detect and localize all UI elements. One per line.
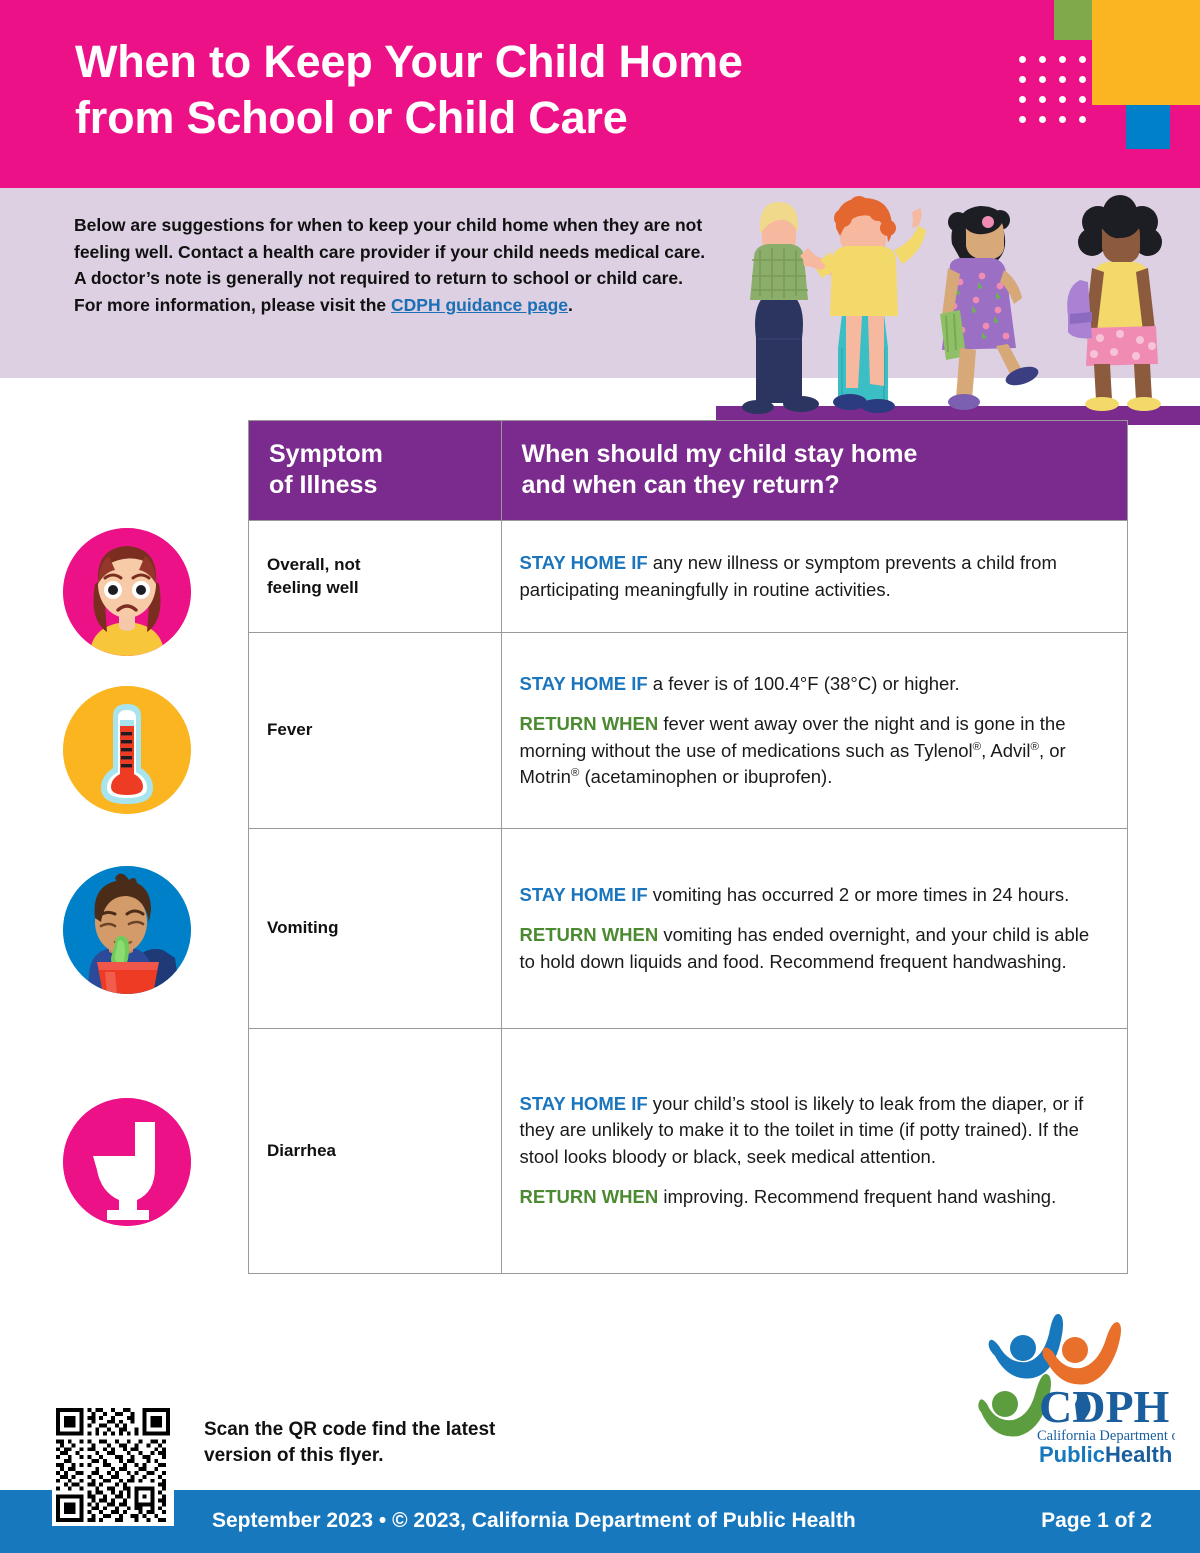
footer-copyright: September 2023 • © 2023, California Depa…	[212, 1509, 856, 1533]
table-row: Overall, not feeling well STAY HOME IF a…	[249, 521, 1127, 633]
stay-home-text: vomiting has occurred 2 or more times in…	[648, 884, 1070, 905]
table-row: Vomiting STAY HOME IF vomiting has occur…	[249, 829, 1127, 1029]
footer-page-number: Page 1 of 2	[1041, 1509, 1152, 1533]
return-when-statement: RETURN WHEN vomiting has ended overnight…	[520, 922, 1110, 975]
column-header-guidance: When should my child stay home and when …	[501, 421, 1127, 521]
stay-home-statement: STAY HOME IF vomiting has occurred 2 or …	[520, 882, 1110, 908]
column-header-symptom: Symptom of Illness	[249, 421, 501, 521]
intro-paragraph: Below are suggestions for when to keep y…	[74, 212, 714, 318]
toilet-icon	[63, 1098, 191, 1226]
symptom-label: Diarrhea	[267, 1141, 336, 1160]
qr-caption: Scan the QR code find the latest version…	[204, 1417, 564, 1469]
symptom-cell-overall: Overall, not feeling well	[249, 521, 501, 633]
decorative-green-rectangle	[1054, 0, 1092, 40]
table-row: Diarrhea STAY HOME IF your child’s stool…	[249, 1029, 1127, 1273]
sad-girl-icon	[63, 528, 191, 656]
table-header-row: Symptom of Illness When should my child …	[249, 421, 1127, 521]
column-header-guidance-line1: When should my child stay home	[522, 440, 918, 468]
vomiting-boy-icon	[63, 866, 191, 994]
stay-home-statement: STAY HOME IF any new illness or symptom …	[520, 550, 1110, 603]
stay-home-statement: STAY HOME IF a fever is of 100.4°F (38°C…	[520, 671, 1110, 697]
footer-bar: September 2023 • © 2023, California Depa…	[0, 1490, 1200, 1553]
svg-text:PublicHealth: PublicHealth	[1039, 1442, 1172, 1467]
symptom-guidance-table: Symptom of Illness When should my child …	[248, 420, 1128, 1274]
symptom-label: Fever	[267, 720, 312, 739]
guidance-cell-diarrhea: STAY HOME IF your child’s stool is likel…	[501, 1029, 1127, 1273]
column-header-guidance-line2: and when can they return?	[522, 471, 840, 499]
stay-home-label: STAY HOME IF	[520, 552, 648, 573]
table-row: Fever STAY HOME IF a fever is of 100.4°F…	[249, 633, 1127, 829]
symptom-cell-vomiting: Vomiting	[249, 829, 501, 1029]
return-when-label: RETURN WHEN	[520, 1186, 659, 1207]
guidance-cell-fever: STAY HOME IF a fever is of 100.4°F (38°C…	[501, 633, 1127, 829]
cdph-guidance-link[interactable]: CDPH guidance page	[391, 295, 568, 315]
thermometer-icon	[63, 686, 191, 814]
qr-code-icon[interactable]	[52, 1404, 174, 1526]
qr-caption-line2: version of this flyer.	[204, 1445, 384, 1466]
symptom-cell-fever: Fever	[249, 633, 501, 829]
column-header-symptom-line1: Symptom	[269, 440, 383, 468]
page-title: When to Keep Your Child Home from School…	[75, 34, 935, 146]
return-when-statement: RETURN WHEN improving. Recommend frequen…	[520, 1184, 1110, 1210]
intro-text-after-link: .	[568, 295, 573, 315]
symptom-cell-diarrhea: Diarrhea	[249, 1029, 501, 1273]
stay-home-label: STAY HOME IF	[520, 884, 648, 905]
decorative-blue-square	[1126, 105, 1170, 149]
children-illustration	[716, 188, 1200, 425]
intro-text-before-link: Below are suggestions for when to keep y…	[74, 215, 705, 315]
symptom-label-line2: feeling well	[267, 578, 359, 597]
guidance-cell-overall: STAY HOME IF any new illness or symptom …	[501, 521, 1127, 633]
cdph-logo-icon: CDPH California Department of PublicHeal…	[975, 1312, 1175, 1472]
symptom-label-line1: Overall, not	[267, 555, 361, 574]
stay-home-statement: STAY HOME IF your child’s stool is likel…	[520, 1091, 1110, 1170]
page-title-line1: When to Keep Your Child Home	[75, 36, 743, 87]
return-when-label: RETURN WHEN	[520, 924, 659, 945]
decorative-yellow-rectangle	[1092, 0, 1200, 105]
stay-home-text: a fever is of 100.4°F (38°C) or higher.	[648, 673, 960, 694]
column-header-symptom-line2: of Illness	[269, 471, 377, 499]
guidance-cell-vomiting: STAY HOME IF vomiting has occurred 2 or …	[501, 829, 1127, 1029]
stay-home-label: STAY HOME IF	[520, 673, 648, 694]
page-header: When to Keep Your Child Home from School…	[0, 0, 1200, 188]
return-when-label: RETURN WHEN	[520, 713, 659, 734]
qr-caption-line1: Scan the QR code find the latest	[204, 1419, 495, 1440]
stay-home-label: STAY HOME IF	[520, 1093, 648, 1114]
svg-text:CDPH: CDPH	[1039, 1381, 1170, 1432]
page-title-line2: from School or Child Care	[75, 92, 628, 143]
symptom-label: Vomiting	[267, 918, 338, 937]
return-when-text: improving. Recommend frequent hand washi…	[658, 1186, 1056, 1207]
decorative-dot-grid-icon	[1013, 50, 1093, 130]
return-when-statement: RETURN WHEN fever went away over the nig…	[520, 711, 1110, 790]
